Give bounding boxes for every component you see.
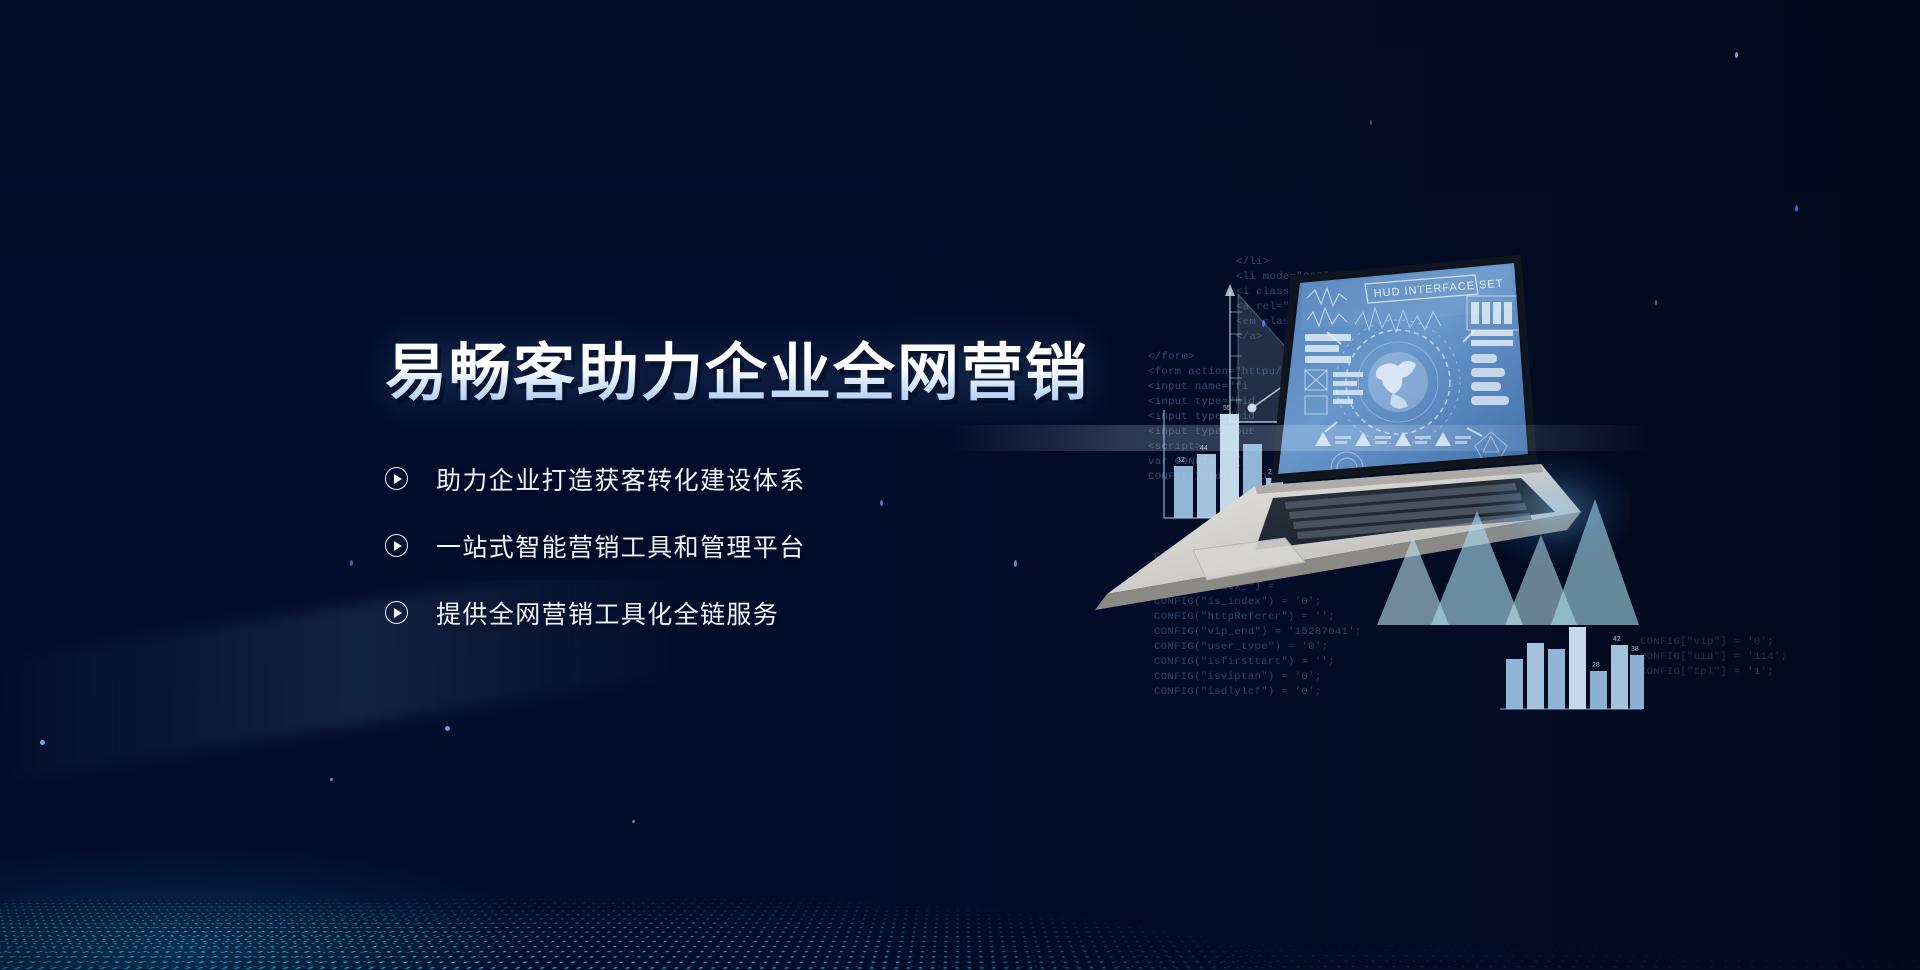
wave-layer-back xyxy=(0,858,1920,970)
svg-text:42: 42 xyxy=(1613,636,1621,643)
list-item-label: 一站式智能营销工具和管理平台 xyxy=(436,528,806,564)
list-item-label: 助力企业打造获客转化建设体系 xyxy=(436,461,806,497)
play-circle-icon xyxy=(385,534,408,557)
list-item-label: 提供全网营销工具化全链服务 xyxy=(436,595,779,631)
marketing-banner: 易畅客助力企业全网营销数据化 助力企业打造获客转化建设体系 一站式智能营销工具和… xyxy=(0,0,1920,970)
play-circle-icon xyxy=(385,601,408,624)
svg-text:38: 38 xyxy=(1631,646,1639,653)
peak-chart-overlay xyxy=(1355,465,1645,630)
hero-illustration: </li> <li mode="997"> <i class="checked"… xyxy=(1140,250,1920,730)
play-circle-icon xyxy=(385,467,408,490)
code-decoration-bottom: CONFIG["vip"] = '0'; CONFIG["uid"] = '11… xyxy=(1640,635,1787,680)
wave-glow xyxy=(0,710,1040,970)
wave-layer-front xyxy=(0,842,1920,970)
wave-layer-mid xyxy=(0,842,1920,970)
